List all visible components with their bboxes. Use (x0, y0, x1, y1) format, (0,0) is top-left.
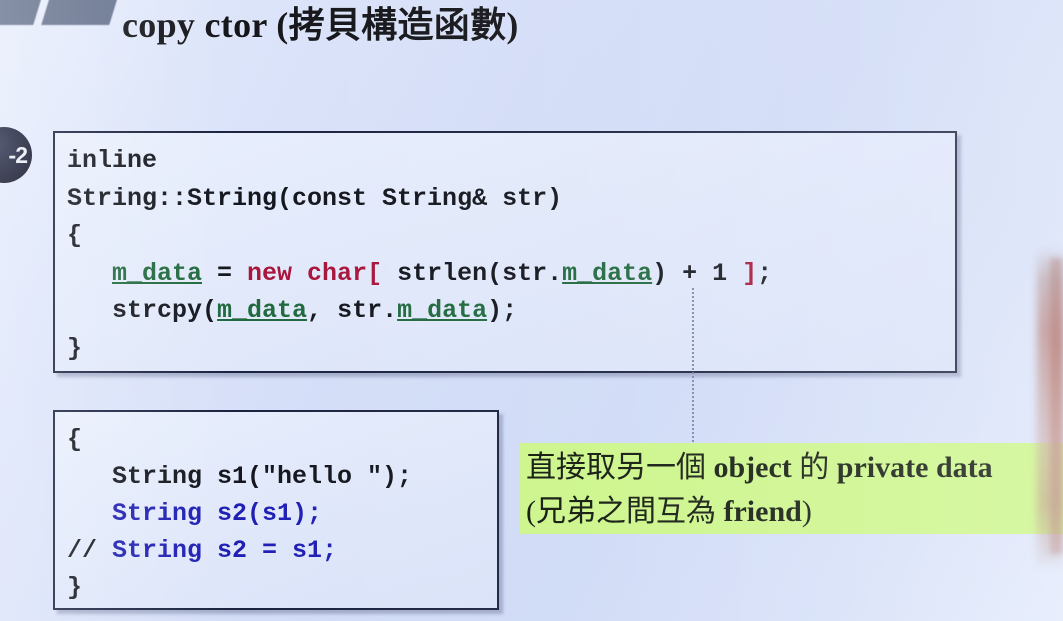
decorative-slash-icon (41, 0, 118, 25)
code-line-strcpy: strcpy(m_data, str.m_data); (67, 292, 955, 330)
token-close-bracket: ] (742, 259, 757, 288)
code-block-copy-ctor: inline String::String(const String& str)… (53, 131, 957, 373)
code-indent (67, 296, 112, 325)
annotation-callout: 直接取另一個 object 的 private data (兄弟之間互為 fri… (520, 443, 1063, 534)
token-member-m-data: m_data (217, 296, 307, 325)
code-line-allocate: m_data = new char[ strlen(str.m_data) + … (67, 255, 955, 293)
token-member-m-data: m_data (562, 259, 652, 288)
token-member-m-data: m_data (397, 296, 487, 325)
token-new-char: new char (247, 259, 367, 288)
code-block-usage: { String s1("hello "); String s2(s1); //… (53, 410, 499, 610)
token-copy-init: String s2 = s1; (112, 536, 337, 565)
decorative-slash-icon (0, 0, 43, 25)
code-line: { (67, 421, 497, 458)
section-number-badge: -2 (0, 127, 32, 183)
annotation-term-object: object (714, 451, 792, 484)
code-line-commented-copy-init: // String s2 = s1; (67, 532, 497, 569)
token-assign: = (202, 259, 247, 288)
slide-canvas: -2 copy ctor (拷貝構造函數) inline String::Str… (0, 0, 1063, 621)
annotation-term-private-data: private data (837, 451, 993, 484)
code-line: String s1("hello "); (67, 458, 497, 495)
annotation-text: ) (802, 495, 812, 528)
code-line: } (67, 330, 955, 368)
token-comment-slashes: // (67, 536, 112, 565)
code-indent (67, 259, 112, 288)
code-line: } (67, 569, 497, 606)
annotation-line-1: 直接取另一個 object 的 private data (526, 446, 1063, 490)
code-line: inline (67, 142, 955, 180)
annotation-text: (兄弟之間互為 (526, 495, 724, 528)
page-title: copy ctor (拷貝構造函數) (122, 0, 519, 48)
annotation-term-friend: friend (724, 495, 802, 528)
token-strcpy-close: ); (487, 296, 517, 325)
token-mid: ) + 1 (652, 259, 742, 288)
token-comma-str: , str. (307, 296, 397, 325)
callout-leader-line (692, 288, 694, 450)
annotation-text: 直接取另一個 (526, 451, 714, 484)
token-open-bracket: [ (367, 259, 382, 288)
token-strlen-open: strlen(str. (382, 259, 562, 288)
annotation-line-2: (兄弟之間互為 friend) (526, 490, 1063, 534)
token-semicolon: ; (757, 259, 772, 288)
code-line-copy-construct: String s2(s1); (67, 495, 497, 532)
annotation-text: 的 (792, 451, 837, 484)
code-line: String::String(const String& str) (67, 180, 955, 218)
token-strcpy-open: strcpy( (112, 296, 217, 325)
code-line: { (67, 217, 955, 255)
token-member-m-data: m_data (112, 259, 202, 288)
